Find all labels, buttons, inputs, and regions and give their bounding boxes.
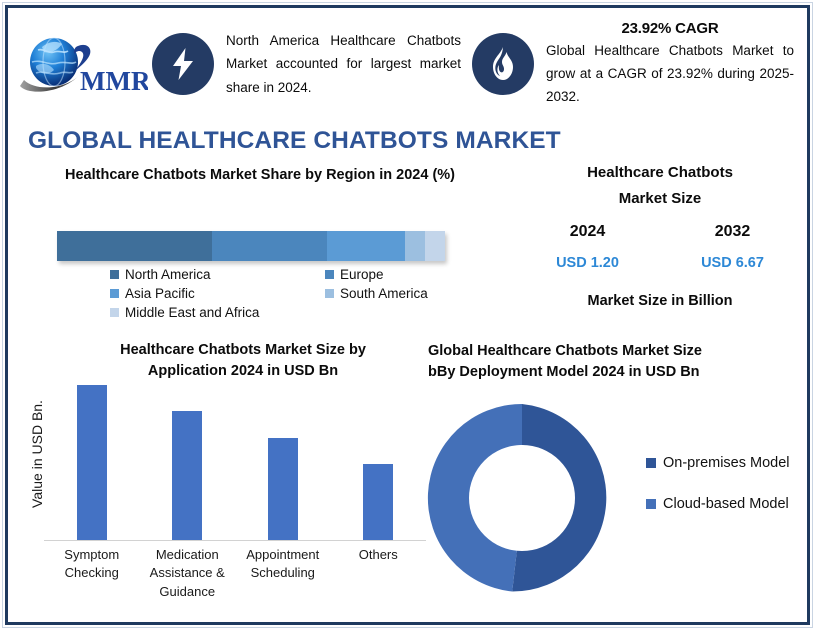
region-stacked-bar: [57, 231, 445, 261]
market-size-value-2024: USD 1.20: [522, 255, 653, 271]
market-size-value-2032: USD 6.67: [667, 255, 798, 271]
deployment-donut-chart: Global Healthcare Chatbots Market Size b…: [418, 338, 808, 623]
legend-swatch-icon: [646, 499, 656, 509]
category-label-symptom-checking: Symptom Checking: [44, 546, 140, 601]
legend-swatch-icon: [646, 458, 656, 468]
legend-item-middle-east-and-africa: Middle East and Africa: [110, 303, 325, 322]
bar-appointment-scheduling: [268, 438, 298, 540]
mmr-logo: MMR: [12, 14, 152, 114]
header-block-market-share: North America Healthcare Chatbots Market…: [152, 14, 472, 114]
category-label-appointment-scheduling: Appointment Scheduling: [235, 546, 331, 601]
donut-hole: [469, 445, 575, 551]
bar-slot: [44, 368, 140, 540]
region-segment-south-america: [405, 231, 425, 261]
bar-slot: [235, 368, 331, 540]
legend-label: Middle East and Africa: [125, 303, 259, 322]
legend-swatch-icon: [110, 308, 119, 317]
application-y-axis-label: Value in USD Bn.: [29, 379, 45, 529]
application-chart-title-line1: Healthcare Chatbots Market Size by: [68, 340, 418, 361]
region-legend: North America Europe Asia Pacific South …: [110, 265, 480, 322]
page-title: GLOBAL HEALTHCARE CHATBOTS MARKET: [28, 127, 561, 155]
flame-icon: [472, 33, 534, 95]
deployment-donut-graphic: [422, 398, 622, 598]
application-category-labels: Symptom Checking Medication Assistance &…: [44, 546, 426, 601]
deployment-chart-title-line1: Global Healthcare Chatbots Market Size: [428, 341, 778, 362]
legend-label: Asia Pacific: [125, 284, 195, 303]
region-segment-north-america: [57, 231, 212, 261]
application-bars: [44, 368, 426, 540]
globe-logo-icon: MMR: [18, 28, 148, 100]
legend-label: On-premises Model: [663, 453, 790, 474]
header-cagr-group: 23.92% CAGR Global Healthcare Chatbots M…: [546, 20, 794, 109]
lightning-bolt-icon: [152, 33, 214, 95]
region-segment-asia-pacific: [327, 231, 405, 261]
legend-item-south-america: South America: [325, 284, 428, 303]
bar-medication-assistance-and-guidance: [172, 411, 202, 540]
legend-item-cloud-based-model: Cloud-based Model: [646, 494, 790, 515]
application-bar-chart: Healthcare Chatbots Market Size by Appli…: [10, 338, 430, 623]
market-size-title: Healthcare Chatbots Market Size: [515, 160, 805, 211]
legend-row: North America Europe: [110, 265, 480, 284]
market-size-year-2024: 2024: [522, 223, 653, 241]
legend-label: Cloud-based Model: [663, 494, 789, 515]
deployment-chart-title-line2: bBy Deployment Model 2024 in USD Bn: [428, 362, 778, 383]
legend-item-europe: Europe: [325, 265, 384, 284]
svg-text:MMR: MMR: [80, 66, 148, 96]
legend-swatch-icon: [110, 270, 119, 279]
header-text-cagr: Global Healthcare Chatbots Market to gro…: [546, 39, 794, 109]
legend-swatch-icon: [110, 289, 119, 298]
cagr-heading: 23.92% CAGR: [546, 20, 794, 37]
market-size-values: USD 1.20 USD 6.67: [515, 255, 805, 271]
application-plot-area: [44, 368, 426, 541]
bar-slot: [331, 368, 427, 540]
legend-label: South America: [340, 284, 428, 303]
region-share-chart: Healthcare Chatbots Market Share by Regi…: [10, 165, 510, 325]
market-size-footer: Market Size in Billion: [515, 293, 805, 309]
legend-row: Asia Pacific South America: [110, 284, 480, 303]
application-x-axis-line: [44, 540, 426, 541]
bar-slot: [140, 368, 236, 540]
legend-item-asia-pacific: Asia Pacific: [110, 284, 325, 303]
header-block-cagr: 23.92% CAGR Global Healthcare Chatbots M…: [472, 14, 802, 114]
legend-item-north-america: North America: [110, 265, 325, 284]
market-size-title-line2: Market Size: [515, 186, 805, 212]
market-size-year-2032: 2032: [667, 223, 798, 241]
legend-swatch-icon: [325, 289, 334, 298]
region-share-title: Healthcare Chatbots Market Share by Regi…: [50, 165, 470, 187]
region-segment-middle-east-and-africa: [425, 231, 445, 261]
legend-item-on-premises-model: On-premises Model: [646, 453, 790, 474]
infographic-root: MMR North America Healthcare Chatbots Ma…: [0, 0, 815, 630]
deployment-chart-title: Global Healthcare Chatbots Market Size b…: [428, 341, 778, 383]
category-label-medication-assistance-and-guidance: Medication Assistance & Guidance: [140, 546, 236, 601]
market-size-years: 2024 2032: [515, 223, 805, 241]
header-text-market-share: North America Healthcare Chatbots Market…: [226, 29, 461, 99]
market-size-title-line1: Healthcare Chatbots: [515, 160, 805, 186]
bar-symptom-checking: [77, 385, 107, 540]
legend-label: North America: [125, 265, 211, 284]
legend-label: Europe: [340, 265, 384, 284]
market-size-panel: Healthcare Chatbots Market Size 2024 203…: [515, 160, 805, 335]
region-segment-europe: [212, 231, 327, 261]
bar-others: [363, 464, 393, 540]
category-label-others: Others: [331, 546, 427, 601]
deployment-legend: On-premises Model Cloud-based Model: [646, 453, 790, 535]
legend-row: Middle East and Africa: [110, 303, 480, 322]
header: MMR North America Healthcare Chatbots Ma…: [12, 10, 803, 118]
legend-swatch-icon: [325, 270, 334, 279]
